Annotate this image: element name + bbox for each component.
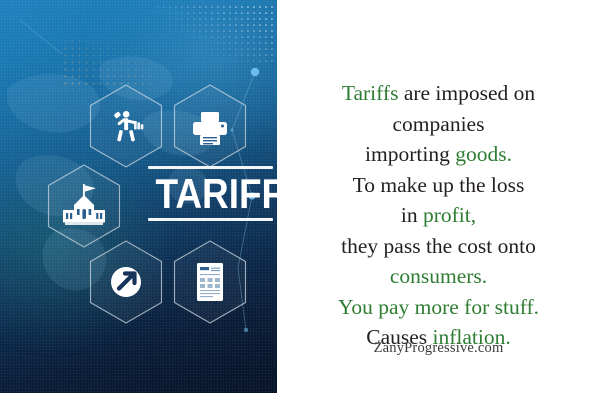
message-line: they pass the cost onto — [285, 231, 592, 262]
message-line: You pay more for stuff. — [285, 292, 592, 323]
wordmark-text: TARIFF — [156, 172, 266, 216]
site-attribution: ZanyProgressive.com — [285, 340, 592, 357]
right-text-area: Tariffs are imposed oncompaniesimporting… — [277, 0, 600, 400]
wordmark-rule-top — [148, 166, 273, 169]
highlighted-term: Tariffs — [342, 81, 399, 105]
tariff-infographic: TARIFF Tariffs are imposed oncompaniesim… — [0, 0, 600, 400]
message-line: To make up the loss — [285, 170, 592, 201]
left-visual-panel: TARIFF — [0, 0, 277, 393]
message-segment: in — [401, 203, 423, 227]
message-segment: companies — [393, 112, 485, 136]
hex-tax-form — [175, 241, 246, 323]
highlighted-term: You pay more for stuff. — [338, 295, 539, 319]
hex-government-building — [49, 165, 120, 247]
message-segment: To make up the loss — [353, 173, 525, 197]
message-segment: they pass the cost onto — [341, 234, 536, 258]
highlighted-term: profit, — [423, 203, 476, 227]
message-text: Tariffs are imposed oncompaniesimporting… — [285, 78, 592, 353]
wordmark-rule-bottom — [148, 218, 273, 221]
message-line: in profit, — [285, 200, 592, 231]
message-segment: are imposed on — [398, 81, 535, 105]
highlighted-term: consumers. — [390, 264, 487, 288]
hex-growth-arrow — [91, 241, 162, 323]
message-segment: importing — [365, 142, 455, 166]
message-line: Tariffs are imposed on — [285, 78, 592, 109]
highlighted-term: goods. — [455, 142, 512, 166]
message-line: consumers. — [285, 261, 592, 292]
message-line: companies — [285, 109, 592, 140]
hex-auctioneer — [91, 85, 162, 167]
hex-printer — [175, 85, 246, 167]
message-line: importing goods. — [285, 139, 592, 170]
tariff-wordmark: TARIFF — [148, 166, 273, 221]
